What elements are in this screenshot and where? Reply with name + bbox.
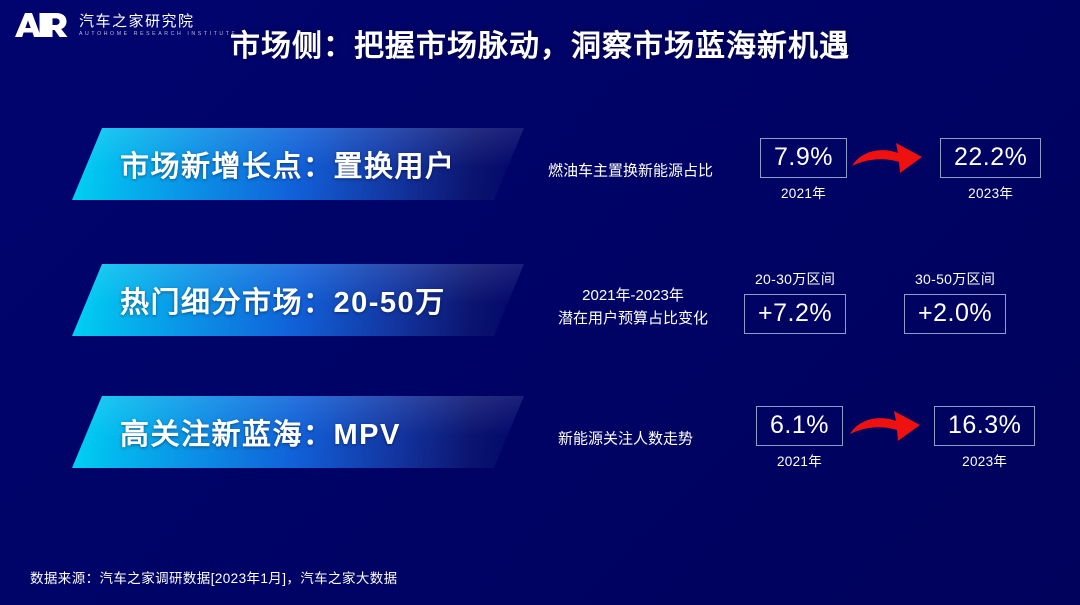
stat-sublabel: 2023年 xyxy=(940,182,1041,202)
metric-caption: 燃油车主置换新能源占比 xyxy=(548,159,713,182)
banner-mpv-bluesea: 高关注新蓝海：MPV xyxy=(72,396,524,468)
stat-box: 22.2% xyxy=(940,138,1041,178)
content-row-3: 高关注新蓝海：MPV 新能源关注人数走势 6.1% 2021年 16.3% 20… xyxy=(0,396,1080,482)
stat-value: +2.0% xyxy=(918,297,992,329)
stat-box: +7.2% xyxy=(744,294,846,334)
curved-arrow-right-icon xyxy=(848,408,922,450)
metrics-group-2: 2021年-2023年 潜在用户预算占比变化 20-30万区间 +7.2% 30… xyxy=(548,264,1070,350)
stat-range-30-50: 30-50万区间 +2.0% xyxy=(904,269,1006,334)
metric-caption-line2: 潜在用户预算占比变化 xyxy=(558,307,708,330)
stat-2021: 7.9% 2021年 xyxy=(760,138,847,202)
metric-caption-line1: 2021年-2023年 xyxy=(558,284,708,307)
stat-value: +7.2% xyxy=(758,297,832,329)
stat-value: 7.9% xyxy=(774,141,833,173)
stat-sublabel: 2023年 xyxy=(934,450,1035,470)
stat-toplabel: 20-30万区间 xyxy=(744,269,846,289)
stat-value: 6.1% xyxy=(770,409,829,441)
stat-2021: 6.1% 2021年 xyxy=(756,406,843,470)
slide-canvas: 汽车之家研究院 AUTOHOME RESEARCH INSTITUTE 市场侧：… xyxy=(0,0,1080,605)
data-source-footer: 数据来源：汽车之家调研数据[2023年1月]，汽车之家大数据 xyxy=(30,567,398,587)
metric-caption: 新能源关注人数走势 xyxy=(558,427,693,450)
metrics-group-1: 燃油车主置换新能源占比 7.9% 2021年 22.2% 2023年 xyxy=(548,128,1070,214)
stat-toplabel: 30-50万区间 xyxy=(904,269,1006,289)
content-row-2: 热门细分市场：20-50万 2021年-2023年 潜在用户预算占比变化 20-… xyxy=(0,264,1080,350)
stat-sublabel: 2021年 xyxy=(756,450,843,470)
banner-market-growth: 市场新增长点：置换用户 xyxy=(72,128,524,200)
banner-label: 市场新增长点：置换用户 xyxy=(120,143,456,185)
stat-value: 22.2% xyxy=(954,141,1027,173)
stat-box: 7.9% xyxy=(760,138,847,178)
stat-value: 16.3% xyxy=(948,409,1021,441)
stat-box: 6.1% xyxy=(756,406,843,446)
stat-2023: 22.2% 2023年 xyxy=(940,138,1041,202)
stat-range-20-30: 20-30万区间 +7.2% xyxy=(744,269,846,334)
metrics-group-3: 新能源关注人数走势 6.1% 2021年 16.3% 2023年 xyxy=(548,396,1070,482)
banner-segment-market: 热门细分市场：20-50万 xyxy=(72,264,524,336)
content-row-1: 市场新增长点：置换用户 燃油车主置换新能源占比 7.9% 2021年 22.2%… xyxy=(0,128,1080,214)
stat-2023: 16.3% 2023年 xyxy=(934,406,1035,470)
stat-box: +2.0% xyxy=(904,294,1006,334)
page-title: 市场侧：把握市场脉动，洞察市场蓝海新机遇 xyxy=(0,21,1080,65)
banner-label: 热门细分市场：20-50万 xyxy=(120,279,446,321)
banner-label: 高关注新蓝海：MPV xyxy=(120,411,401,453)
stat-sublabel: 2021年 xyxy=(760,182,847,202)
metric-caption: 2021年-2023年 潜在用户预算占比变化 xyxy=(558,284,708,331)
stat-box: 16.3% xyxy=(934,406,1035,446)
curved-arrow-right-icon xyxy=(850,140,924,182)
